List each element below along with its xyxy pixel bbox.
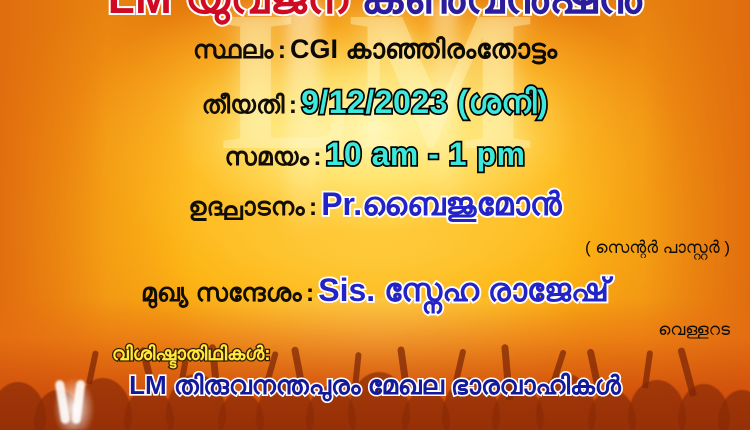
headline-part-b: കൺവൻഷൻ [361,0,642,23]
poster-content: LM യുവജന കൺവൻഷൻ സ്ഥലം:CGI കാഞ്ഞിരംതോട്ടം… [0,0,750,430]
message-note: വെള്ളറട [658,320,730,340]
detail-row-message: മുഖ്യ സന്ദേശം:Sis. സ്നേഹ രാജേഷ് [0,272,750,310]
inauguration-note: ( സെന്റർ പാസ്റ്റർ ) [585,238,730,258]
message-value: Sis. സ്നേഹ രാജേഷ് [318,272,609,308]
detail-row-inauguration: ഉദ്ഘാടനം:Pr.ബൈജുമോൻ [0,186,750,224]
message-separator: : [302,279,318,307]
guests-heading: വിശിഷ്ടാതിഥികൾ: [112,344,271,366]
date-value: 9/12/2023 (ശനി) [301,84,548,120]
detail-row-date: തീയതി:9/12/2023 (ശനി) [0,84,750,122]
guests-entry: LM തിരുവനന്തപുരം മേഖല ഭാരവാഹികൾ [0,370,750,402]
message-label: മുഖ്യ സന്ദേശം [141,279,302,307]
time-separator: : [309,143,325,171]
venue-separator: : [274,36,290,64]
inauguration-label: ഉദ്ഘാടനം [188,193,304,221]
inauguration-separator: : [305,193,321,221]
detail-row-venue: സ്ഥലം:CGI കാഞ്ഞിരംതോട്ടം [0,34,750,66]
headline-part-a: LM യുവജന [108,0,349,23]
inauguration-value: Pr.ബൈജുമോൻ [321,186,561,222]
date-label: തീയതി [202,91,285,119]
time-label: സമയം [225,143,310,171]
poster-headline: LM യുവജന കൺവൻഷൻ [0,0,750,24]
event-poster: LM [0,0,750,430]
venue-value: CGI കാഞ്ഞിരംതോട്ടം [290,34,557,64]
time-value: 10 am - 1 pm [326,136,526,172]
venue-label: സ്ഥലം [193,36,274,64]
date-separator: : [285,91,301,119]
detail-row-time: സമയം:10 am - 1 pm [0,136,750,173]
